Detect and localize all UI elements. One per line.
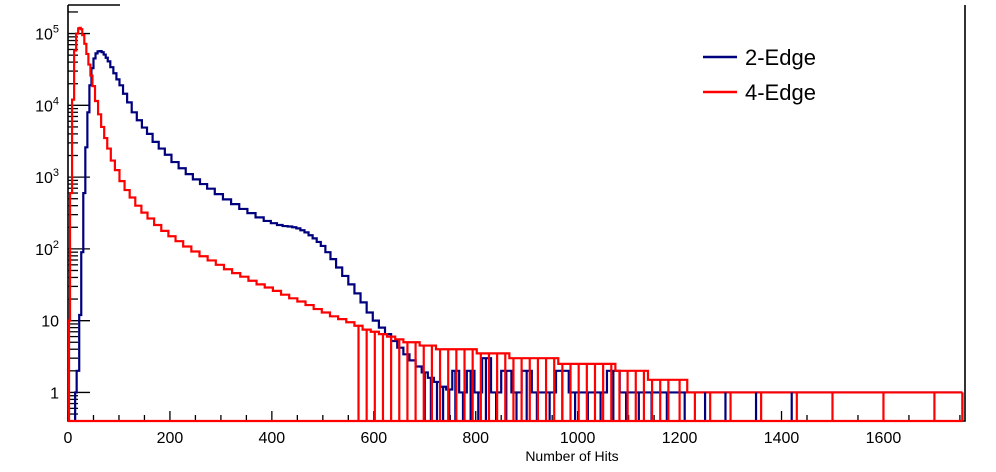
x-tick-label: 1200 (662, 430, 698, 447)
legend-label-1: 2-Edge (745, 45, 816, 70)
x-tick-label: 200 (157, 430, 184, 447)
x-tick-label: 600 (360, 430, 387, 447)
x-tick-label: 1600 (866, 430, 902, 447)
y-tick-label: 1 (50, 385, 59, 402)
x-axis-title: Number of Hits (525, 448, 618, 464)
x-tick-label: 0 (64, 430, 73, 447)
x-tick-label: 1000 (560, 430, 596, 447)
y-tick-label: 10 (41, 314, 59, 331)
x-tick-label: 400 (259, 430, 286, 447)
x-tick-label: 800 (462, 430, 489, 447)
legend-label-2: 4-Edge (745, 80, 816, 105)
x-tick-label: 1400 (764, 430, 800, 447)
chart-canvas: 02004006008001000120014001600 1101021031… (0, 0, 996, 472)
histogram-plot: 02004006008001000120014001600 1101021031… (0, 0, 996, 472)
